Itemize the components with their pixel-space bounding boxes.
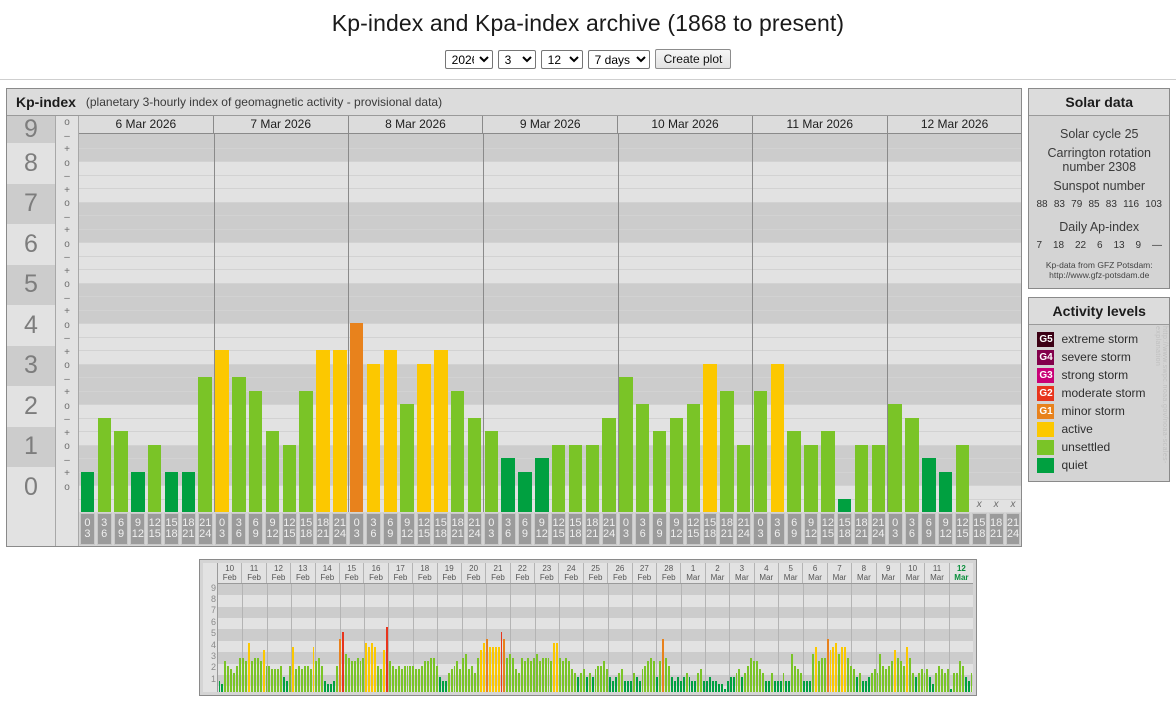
- overview-day-header-cell[interactable]: 20Feb: [461, 563, 485, 583]
- overview-bar[interactable]: [809, 681, 811, 692]
- kp-bar[interactable]: [266, 431, 279, 512]
- overview-bar[interactable]: [853, 669, 855, 692]
- overview-bar[interactable]: [592, 677, 594, 692]
- overview-day-header-cell[interactable]: 10Mar: [900, 563, 924, 583]
- overview-bar[interactable]: [636, 677, 638, 692]
- bar-slot[interactable]: [887, 134, 904, 512]
- overview-bar[interactable]: [665, 658, 667, 692]
- kp-bar[interactable]: [518, 472, 531, 513]
- overview-bar[interactable]: [941, 669, 943, 692]
- overview-bar[interactable]: [515, 669, 517, 692]
- overview-bar[interactable]: [456, 661, 458, 692]
- overview-bar[interactable]: [968, 681, 970, 692]
- overview-bar[interactable]: [956, 673, 958, 692]
- overview-bar[interactable]: [856, 677, 858, 692]
- overview-bar[interactable]: [377, 666, 379, 692]
- overview-bar[interactable]: [709, 677, 711, 692]
- overview-bar[interactable]: [921, 669, 923, 692]
- overview-bar[interactable]: [386, 627, 388, 692]
- overview-day-header-cell[interactable]: 17Feb: [388, 563, 412, 583]
- kp-bar[interactable]: [787, 431, 800, 512]
- overview-bar[interactable]: [539, 661, 541, 692]
- overview-bar[interactable]: [959, 661, 961, 692]
- bar-slot[interactable]: [416, 134, 433, 512]
- kp-bar[interactable]: [670, 418, 683, 512]
- overview-bar[interactable]: [230, 669, 232, 692]
- kp-bar[interactable]: [602, 418, 615, 512]
- kp-bar[interactable]: [720, 391, 733, 513]
- kp-bar[interactable]: [939, 472, 952, 513]
- overview-bar[interactable]: [903, 666, 905, 692]
- overview-bar[interactable]: [633, 673, 635, 692]
- overview-bar[interactable]: [844, 647, 846, 692]
- overview-day-header-cell[interactable]: 28Feb: [656, 563, 680, 583]
- overview-bar[interactable]: [480, 650, 482, 692]
- overview-bar[interactable]: [824, 658, 826, 692]
- overview-bar[interactable]: [906, 647, 908, 692]
- bar-slot[interactable]: x: [1005, 134, 1022, 512]
- overview-bar[interactable]: [233, 673, 235, 692]
- overview-bar[interactable]: [891, 661, 893, 692]
- overview-bar[interactable]: [900, 661, 902, 692]
- overview-bar[interactable]: [518, 673, 520, 692]
- overview-bar[interactable]: [586, 677, 588, 692]
- bar-slot[interactable]: [382, 134, 399, 512]
- overview-bar[interactable]: [609, 677, 611, 692]
- kp-bar[interactable]: [148, 445, 161, 513]
- overview-bar[interactable]: [821, 658, 823, 692]
- overview-bar[interactable]: [639, 681, 641, 692]
- overview-bar[interactable]: [859, 673, 861, 692]
- overview-bar[interactable]: [850, 666, 852, 692]
- overview-day-header-cell[interactable]: 7Mar: [827, 563, 851, 583]
- overview-day-header-cell[interactable]: 10Feb: [218, 563, 241, 583]
- overview-bar[interactable]: [310, 669, 312, 692]
- overview-bar[interactable]: [454, 666, 456, 692]
- overview-bar[interactable]: [574, 673, 576, 692]
- overview-bar[interactable]: [565, 658, 567, 692]
- bar-slot[interactable]: [533, 134, 550, 512]
- overview-bar[interactable]: [536, 654, 538, 692]
- overview-bar[interactable]: [938, 666, 940, 692]
- kp-bar[interactable]: [619, 377, 632, 512]
- overview-bar[interactable]: [686, 673, 688, 692]
- bar-slot[interactable]: [920, 134, 937, 512]
- overview-bar[interactable]: [812, 654, 814, 692]
- overview-bar[interactable]: [395, 669, 397, 692]
- overview-bar[interactable]: [774, 681, 776, 692]
- overview-day-header-cell[interactable]: 5Mar: [778, 563, 802, 583]
- overview-day-header-cell[interactable]: 25Feb: [583, 563, 607, 583]
- overview-bar[interactable]: [506, 658, 508, 692]
- overview-bar[interactable]: [477, 658, 479, 692]
- overview-bar[interactable]: [627, 681, 629, 692]
- bar-slot[interactable]: x: [971, 134, 988, 512]
- overview-bar[interactable]: [615, 677, 617, 692]
- overview-bar[interactable]: [330, 684, 332, 692]
- overview-bar[interactable]: [918, 673, 920, 692]
- overview-bar[interactable]: [421, 666, 423, 692]
- overview-bar[interactable]: [521, 658, 523, 692]
- overview-bar[interactable]: [568, 661, 570, 692]
- overview-bar[interactable]: [721, 684, 723, 692]
- overview-day-header-cell[interactable]: 3Mar: [729, 563, 753, 583]
- kp-bar[interactable]: [316, 350, 329, 512]
- kp-bar[interactable]: [485, 431, 498, 512]
- kp-bar[interactable]: [165, 472, 178, 513]
- overview-bar[interactable]: [424, 661, 426, 692]
- overview-bar[interactable]: [254, 658, 256, 692]
- overview-day-header-cell[interactable]: 21Feb: [485, 563, 509, 583]
- kp-bar[interactable]: [888, 404, 901, 512]
- overview-bar[interactable]: [451, 669, 453, 692]
- overview-bar[interactable]: [465, 654, 467, 692]
- bar-slot[interactable]: [803, 134, 820, 512]
- kp-bar[interactable]: [182, 472, 195, 513]
- overview-bar[interactable]: [354, 661, 356, 692]
- overview-bar[interactable]: [765, 681, 767, 692]
- overview-bar[interactable]: [932, 684, 934, 692]
- overview-bar[interactable]: [533, 658, 535, 692]
- overview-bar[interactable]: [245, 661, 247, 692]
- overview-bar[interactable]: [489, 647, 491, 692]
- bar-slot[interactable]: [365, 134, 382, 512]
- bar-slot[interactable]: [836, 134, 853, 512]
- bar-slot[interactable]: x: [988, 134, 1005, 512]
- overview-bar[interactable]: [621, 669, 623, 692]
- bar-slot[interactable]: [264, 134, 281, 512]
- kp-bar[interactable]: [586, 445, 599, 513]
- overview-day-header-cell[interactable]: 26Feb: [607, 563, 631, 583]
- bar-slot[interactable]: [399, 134, 416, 512]
- overview-bar[interactable]: [498, 647, 500, 692]
- overview-bar[interactable]: [333, 681, 335, 692]
- overview-bar[interactable]: [653, 661, 655, 692]
- bar-slot[interactable]: [113, 134, 130, 512]
- kp-bar[interactable]: [468, 418, 481, 512]
- bar-slot[interactable]: [281, 134, 298, 512]
- kp-bar[interactable]: [636, 404, 649, 512]
- overview-bar[interactable]: [351, 661, 353, 692]
- overview-bar[interactable]: [398, 666, 400, 692]
- create-plot-button[interactable]: Create plot: [655, 49, 732, 69]
- overview-bar[interactable]: [747, 666, 749, 692]
- overview-bar[interactable]: [257, 658, 259, 692]
- kp-bar[interactable]: [821, 431, 834, 512]
- overview-bar[interactable]: [436, 666, 438, 692]
- overview-bar[interactable]: [260, 661, 262, 692]
- overview-bar[interactable]: [650, 658, 652, 692]
- kp-bar[interactable]: [804, 445, 817, 513]
- overview-bar[interactable]: [492, 647, 494, 692]
- bar-slot[interactable]: [904, 134, 921, 512]
- overview-bar[interactable]: [912, 673, 914, 692]
- overview-bar[interactable]: [691, 681, 693, 692]
- month-select[interactable]: 3: [498, 50, 536, 69]
- overview-bar[interactable]: [548, 658, 550, 692]
- overview-bar[interactable]: [251, 661, 253, 692]
- bar-slot[interactable]: [634, 134, 651, 512]
- overview-bar[interactable]: [738, 669, 740, 692]
- overview-bar[interactable]: [266, 666, 268, 692]
- bar-slot[interactable]: [752, 134, 769, 512]
- overview-bar[interactable]: [818, 661, 820, 692]
- overview-bar[interactable]: [324, 681, 326, 692]
- overview-day-header-cell[interactable]: 19Feb: [437, 563, 461, 583]
- bar-slot[interactable]: [853, 134, 870, 512]
- day-select[interactable]: 12: [541, 50, 583, 69]
- bar-slot[interactable]: [315, 134, 332, 512]
- overview-bar[interactable]: [371, 643, 373, 692]
- overview-bar[interactable]: [885, 669, 887, 692]
- overview-bar[interactable]: [868, 677, 870, 692]
- kp-bar[interactable]: [367, 364, 380, 513]
- overview-bar[interactable]: [756, 661, 758, 692]
- overview-bar[interactable]: [236, 666, 238, 692]
- overview-day-header-cell[interactable]: 23Feb: [534, 563, 558, 583]
- overview-bar[interactable]: [383, 650, 385, 692]
- overview-bar[interactable]: [815, 647, 817, 692]
- overview-bar[interactable]: [694, 681, 696, 692]
- overview-bar[interactable]: [877, 673, 879, 692]
- overview-bar[interactable]: [909, 658, 911, 692]
- overview-bar[interactable]: [527, 658, 529, 692]
- overview-bar[interactable]: [759, 669, 761, 692]
- bar-slot[interactable]: [786, 134, 803, 512]
- overview-bar[interactable]: [486, 639, 488, 692]
- overview-bar[interactable]: [724, 689, 726, 692]
- overview-bar[interactable]: [357, 658, 359, 692]
- kp-bar[interactable]: [552, 445, 565, 513]
- kp-bar[interactable]: [232, 377, 245, 512]
- overview-bar[interactable]: [427, 661, 429, 692]
- overview-day-header-cell[interactable]: 12Mar: [949, 563, 973, 583]
- overview-day-header-cell[interactable]: 14Feb: [315, 563, 339, 583]
- overview-bar[interactable]: [474, 673, 476, 692]
- overview-bar[interactable]: [407, 666, 409, 692]
- overview-bar[interactable]: [442, 681, 444, 692]
- kp-bar[interactable]: [501, 458, 514, 512]
- overview-bar[interactable]: [744, 673, 746, 692]
- overview-bar[interactable]: [404, 666, 406, 692]
- overview-bar[interactable]: [412, 666, 414, 692]
- kp-bar[interactable]: [771, 364, 784, 513]
- overview-bar[interactable]: [865, 681, 867, 692]
- kp-bar[interactable]: [653, 431, 666, 512]
- overview-bar[interactable]: [800, 673, 802, 692]
- overview-day-header-cell[interactable]: 6Mar: [802, 563, 826, 583]
- overview-bar[interactable]: [618, 673, 620, 692]
- overview-bar[interactable]: [677, 677, 679, 692]
- overview-bar[interactable]: [439, 677, 441, 692]
- overview-bar[interactable]: [409, 666, 411, 692]
- overview-bar[interactable]: [656, 677, 658, 692]
- overview-bar[interactable]: [292, 647, 294, 692]
- kp-bar[interactable]: [114, 431, 127, 512]
- overview-bar[interactable]: [882, 666, 884, 692]
- overview-bar[interactable]: [753, 661, 755, 692]
- overview-day-header-cell[interactable]: 11Feb: [241, 563, 265, 583]
- overview-bar[interactable]: [392, 666, 394, 692]
- kp-bar[interactable]: [569, 445, 582, 513]
- bar-slot[interactable]: [247, 134, 264, 512]
- overview-bar[interactable]: [797, 669, 799, 692]
- range-select[interactable]: 7 days: [588, 50, 650, 69]
- kp-bar[interactable]: [703, 364, 716, 513]
- bar-slot[interactable]: [937, 134, 954, 512]
- kp-bar[interactable]: [754, 391, 767, 513]
- overview-bar[interactable]: [879, 654, 881, 692]
- overview-bar[interactable]: [947, 669, 949, 692]
- kp-bar[interactable]: [855, 445, 868, 513]
- overview-bar[interactable]: [289, 666, 291, 692]
- overview-bar[interactable]: [401, 669, 403, 692]
- overview-bar[interactable]: [242, 658, 244, 692]
- overview-bar[interactable]: [360, 661, 362, 692]
- overview-bar[interactable]: [689, 677, 691, 692]
- overview-bar[interactable]: [718, 684, 720, 692]
- overview-bar[interactable]: [274, 669, 276, 692]
- kp-bar[interactable]: [434, 350, 447, 512]
- overview-bar[interactable]: [327, 684, 329, 692]
- kp-bar[interactable]: [905, 418, 918, 512]
- overview-bar[interactable]: [871, 673, 873, 692]
- overview-bar[interactable]: [336, 666, 338, 692]
- overview-bar[interactable]: [603, 661, 605, 692]
- overview-bar[interactable]: [715, 681, 717, 692]
- overview-bar[interactable]: [841, 647, 843, 692]
- overview-bar[interactable]: [971, 673, 973, 692]
- bar-slot[interactable]: [618, 134, 635, 512]
- bar-slot[interactable]: [769, 134, 786, 512]
- overview-bar[interactable]: [606, 669, 608, 692]
- kp-bar[interactable]: [283, 445, 296, 513]
- overview-bar[interactable]: [248, 643, 250, 692]
- overview-bar[interactable]: [559, 658, 561, 692]
- overview-bar[interactable]: [862, 681, 864, 692]
- overview-bar[interactable]: [788, 681, 790, 692]
- kp-bar[interactable]: [198, 377, 211, 512]
- kp-bar[interactable]: [299, 391, 312, 513]
- kp-bar[interactable]: [131, 472, 144, 513]
- overview-bar[interactable]: [321, 666, 323, 692]
- bar-slot[interactable]: [702, 134, 719, 512]
- overview-bar[interactable]: [595, 669, 597, 692]
- overview-bar[interactable]: [271, 669, 273, 692]
- overview-bar[interactable]: [680, 681, 682, 692]
- overview-bar[interactable]: [263, 650, 265, 692]
- overview-day-header-cell[interactable]: 12Feb: [266, 563, 290, 583]
- bar-slot[interactable]: [735, 134, 752, 512]
- overview-bar[interactable]: [929, 677, 931, 692]
- overview-bar[interactable]: [501, 632, 503, 692]
- overview-bar[interactable]: [785, 681, 787, 692]
- overview-bar[interactable]: [806, 681, 808, 692]
- bar-slot[interactable]: [197, 134, 214, 512]
- overview-day-header-cell[interactable]: 11Mar: [924, 563, 948, 583]
- overview-bar[interactable]: [503, 639, 505, 692]
- overview-bar[interactable]: [924, 673, 926, 692]
- overview-bar[interactable]: [768, 681, 770, 692]
- overview-day-header-cell[interactable]: 24Feb: [558, 563, 582, 583]
- overview-bar[interactable]: [571, 669, 573, 692]
- overview-bar[interactable]: [832, 647, 834, 692]
- bar-slot[interactable]: [180, 134, 197, 512]
- overview-bar[interactable]: [733, 677, 735, 692]
- overview-bar[interactable]: [415, 669, 417, 692]
- overview-bar[interactable]: [268, 666, 270, 692]
- overview-bar[interactable]: [389, 661, 391, 692]
- overview-day-header-cell[interactable]: 4Mar: [754, 563, 778, 583]
- bar-slot[interactable]: [954, 134, 971, 512]
- overview-bar[interactable]: [286, 681, 288, 692]
- overview-day-header-cell[interactable]: 1Mar: [680, 563, 704, 583]
- overview-bar[interactable]: [418, 669, 420, 692]
- kp-bar[interactable]: [81, 472, 94, 513]
- kp-bar[interactable]: [98, 418, 111, 512]
- overview-bar[interactable]: [495, 647, 497, 692]
- kp-bar[interactable]: [838, 499, 851, 512]
- overview-bar[interactable]: [847, 658, 849, 692]
- overview-bar[interactable]: [318, 658, 320, 692]
- kp-bar[interactable]: [872, 445, 885, 513]
- overview-day-header-cell[interactable]: 22Feb: [510, 563, 534, 583]
- overview-bar[interactable]: [553, 643, 555, 692]
- overview-bar[interactable]: [307, 666, 309, 692]
- bar-slot[interactable]: [432, 134, 449, 512]
- overview-bar[interactable]: [897, 658, 899, 692]
- bar-slot[interactable]: [331, 134, 348, 512]
- overview-bar[interactable]: [803, 681, 805, 692]
- overview-bar[interactable]: [227, 666, 229, 692]
- overview-bar[interactable]: [583, 669, 585, 692]
- overview-bar[interactable]: [345, 654, 347, 692]
- overview-bar[interactable]: [433, 658, 435, 692]
- overview-bar[interactable]: [612, 681, 614, 692]
- bar-slot[interactable]: [500, 134, 517, 512]
- overview-bar[interactable]: [750, 658, 752, 692]
- overview-bar[interactable]: [730, 677, 732, 692]
- overview-bar[interactable]: [624, 681, 626, 692]
- overview-day-header-cell[interactable]: 27Feb: [632, 563, 656, 583]
- overview-bar[interactable]: [219, 681, 221, 692]
- bar-slot[interactable]: [348, 134, 365, 512]
- overview-bar[interactable]: [791, 654, 793, 692]
- overview-bar[interactable]: [953, 673, 955, 692]
- bar-slot[interactable]: [819, 134, 836, 512]
- bar-slot[interactable]: [129, 134, 146, 512]
- overview-bar[interactable]: [339, 639, 341, 692]
- bar-slot[interactable]: [146, 134, 163, 512]
- overview-bar[interactable]: [283, 677, 285, 692]
- bar-slot[interactable]: [685, 134, 702, 512]
- overview-bar[interactable]: [736, 673, 738, 692]
- overview-bar[interactable]: [295, 669, 297, 692]
- overview-bar[interactable]: [965, 677, 967, 692]
- overview-bar[interactable]: [550, 661, 552, 692]
- overview-bar[interactable]: [530, 661, 532, 692]
- bar-slot[interactable]: [718, 134, 735, 512]
- overview-day-header-cell[interactable]: 2Mar: [705, 563, 729, 583]
- overview-bar[interactable]: [362, 658, 364, 692]
- bar-slot[interactable]: [668, 134, 685, 512]
- overview-bar[interactable]: [577, 677, 579, 692]
- overview-bar[interactable]: [280, 666, 282, 692]
- overview-bar[interactable]: [668, 666, 670, 692]
- bar-slot[interactable]: [163, 134, 180, 512]
- bar-slot[interactable]: [298, 134, 315, 512]
- overview-bar[interactable]: [445, 681, 447, 692]
